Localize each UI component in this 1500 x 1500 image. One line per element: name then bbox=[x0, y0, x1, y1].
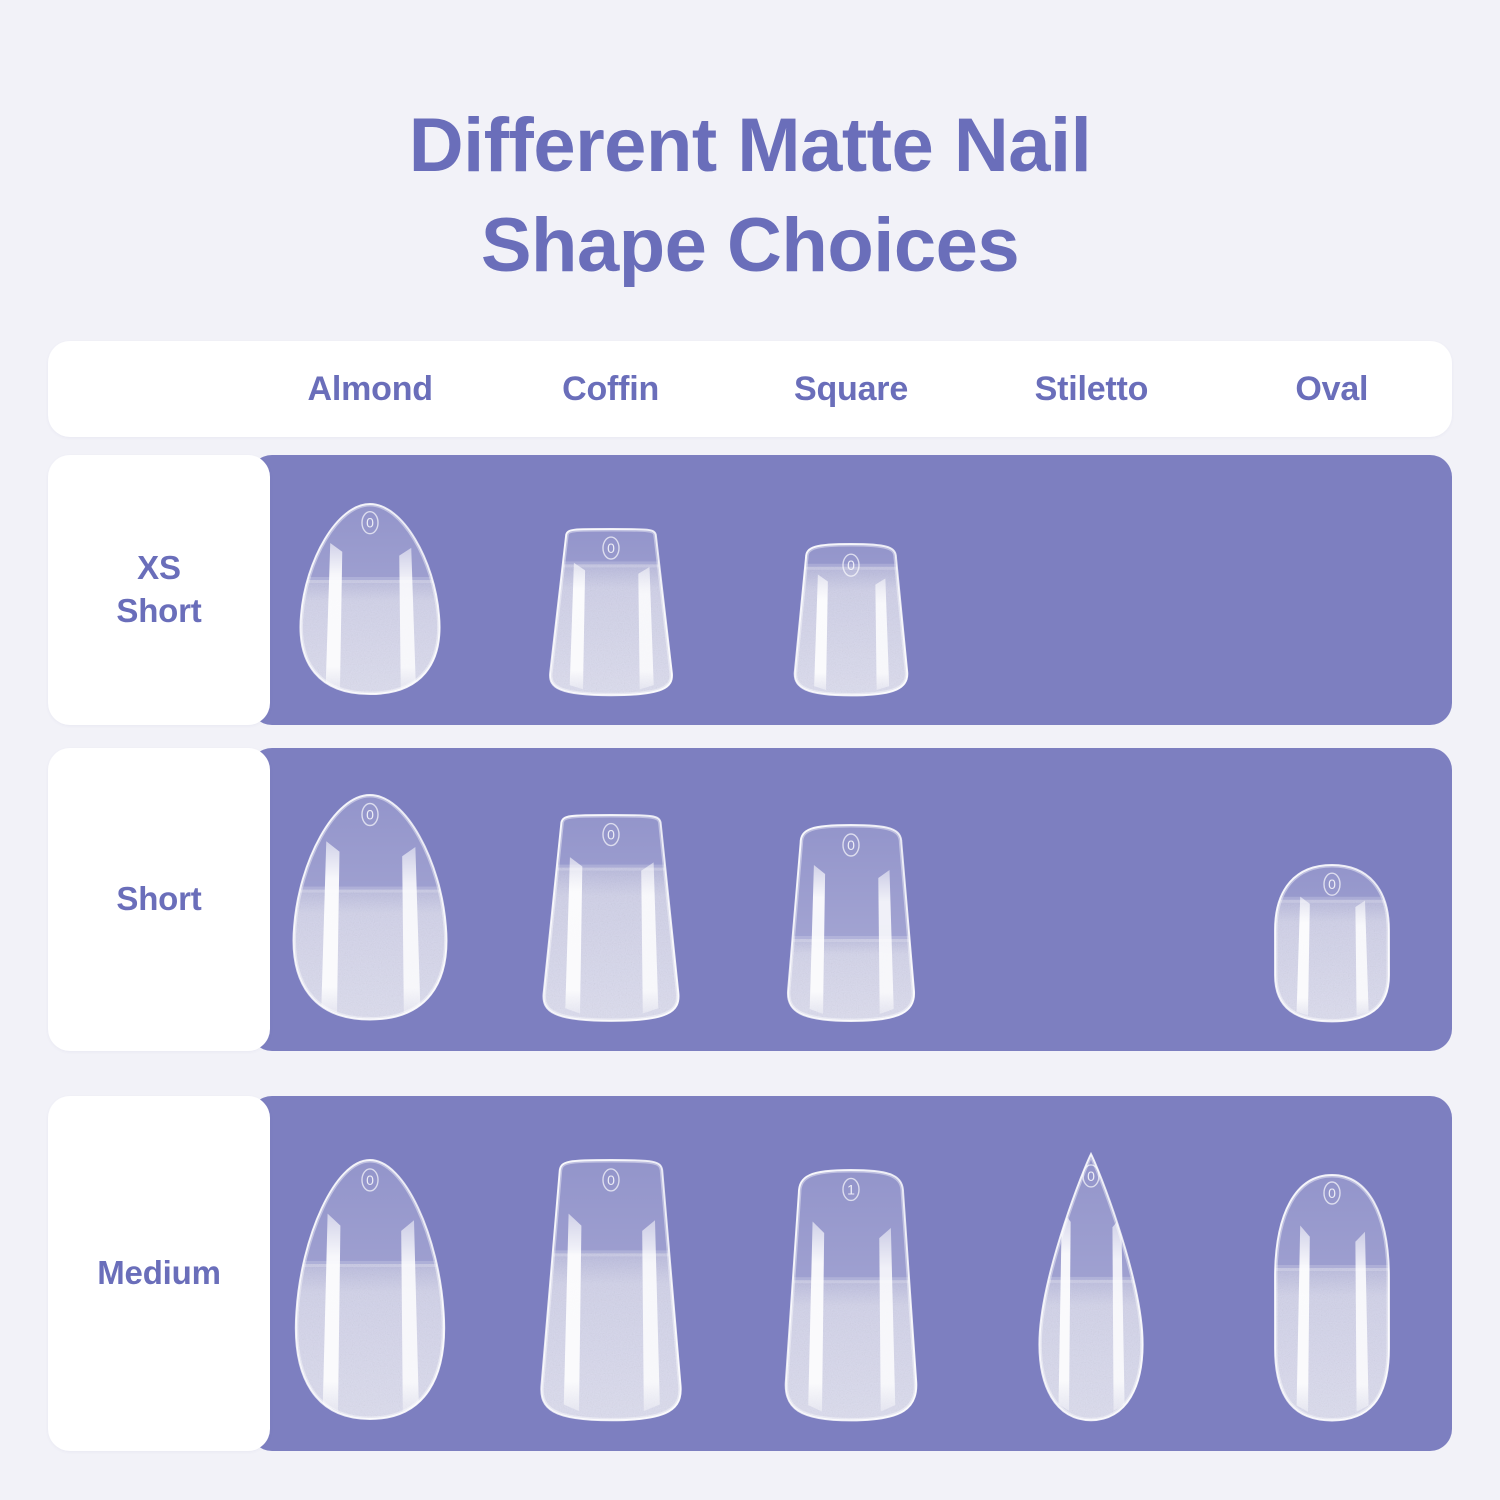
column-header-stiletto: Stiletto bbox=[971, 341, 1211, 437]
cell-short-oval: 0 bbox=[1212, 748, 1452, 1051]
svg-text:0: 0 bbox=[607, 1172, 615, 1188]
nail-tip-almond: 0 bbox=[295, 502, 445, 697]
svg-text:0: 0 bbox=[366, 807, 374, 823]
row-label-text: XS Short bbox=[116, 547, 201, 633]
row-panel-xs-short: 0 bbox=[250, 455, 1452, 725]
cell-medium-square: 1 bbox=[731, 1096, 971, 1451]
page-title-line-2: Shape Choices bbox=[0, 196, 1500, 296]
svg-text:0: 0 bbox=[1328, 1185, 1336, 1201]
nail-shape-size-table: Almond Coffin Square Stiletto Oval XS Sh… bbox=[48, 341, 1452, 1451]
table-row: XS Short bbox=[48, 455, 1452, 725]
cell-short-square: 0 bbox=[731, 748, 971, 1051]
cell-xs-short-coffin: 0 bbox=[490, 455, 730, 725]
table-header-card: Almond Coffin Square Stiletto Oval bbox=[48, 341, 1452, 437]
row-label-text: Short bbox=[116, 878, 201, 921]
svg-text:0: 0 bbox=[1328, 876, 1336, 892]
cell-short-stiletto bbox=[971, 748, 1211, 1051]
cell-short-coffin: 0 bbox=[490, 748, 730, 1051]
svg-text:0: 0 bbox=[366, 515, 374, 531]
nail-tip-coffin: 0 bbox=[533, 813, 688, 1023]
cell-xs-short-oval bbox=[1212, 455, 1452, 725]
nail-tip-almond: 0 bbox=[290, 1158, 450, 1423]
cell-medium-oval: 0 bbox=[1212, 1096, 1452, 1451]
column-header-oval: Oval bbox=[1212, 341, 1452, 437]
column-header-coffin: Coffin bbox=[490, 341, 730, 437]
nail-tip-stiletto: 0 bbox=[1036, 1153, 1146, 1423]
svg-text:0: 0 bbox=[607, 540, 615, 556]
nail-tip-square: 1 bbox=[779, 1168, 924, 1423]
row-label-text: Medium bbox=[97, 1252, 220, 1295]
nail-tip-coffin: 0 bbox=[531, 1158, 691, 1423]
row-label-medium: Medium bbox=[48, 1096, 270, 1451]
row-label-short: Short bbox=[48, 748, 270, 1051]
svg-text:0: 0 bbox=[607, 827, 615, 843]
svg-text:0: 0 bbox=[1088, 1168, 1096, 1184]
svg-text:0: 0 bbox=[847, 837, 855, 853]
nail-tip-oval: 0 bbox=[1272, 1173, 1392, 1423]
cell-medium-stiletto: 0 bbox=[971, 1096, 1211, 1451]
page-title-line-1: Different Matte Nail bbox=[0, 96, 1500, 196]
column-header-square: Square bbox=[731, 341, 971, 437]
table-header-columns: Almond Coffin Square Stiletto Oval bbox=[250, 341, 1452, 437]
table-row: Short bbox=[48, 748, 1452, 1051]
row-label-xs-short: XS Short bbox=[48, 455, 270, 725]
cell-xs-short-stiletto bbox=[971, 455, 1211, 725]
nail-tip-square: 0 bbox=[789, 542, 914, 697]
svg-text:0: 0 bbox=[366, 1172, 374, 1188]
cell-medium-almond: 0 bbox=[250, 1096, 490, 1451]
svg-text:0: 0 bbox=[847, 557, 855, 573]
nail-tip-almond: 0 bbox=[288, 793, 453, 1023]
page-title: Different Matte Nail Shape Choices bbox=[0, 96, 1500, 297]
cell-medium-coffin: 0 bbox=[490, 1096, 730, 1451]
nail-tip-square: 0 bbox=[781, 823, 921, 1023]
cell-short-almond: 0 bbox=[250, 748, 490, 1051]
row-panel-short: 0 bbox=[250, 748, 1452, 1051]
nail-tip-coffin: 0 bbox=[541, 527, 681, 697]
nail-tip-oval: 0 bbox=[1272, 863, 1392, 1023]
table-row: Medium bbox=[48, 1096, 1452, 1451]
cell-xs-short-almond: 0 bbox=[250, 455, 490, 725]
column-header-almond: Almond bbox=[250, 341, 490, 437]
row-panel-medium: 0 bbox=[250, 1096, 1452, 1451]
cell-xs-short-square: 0 bbox=[731, 455, 971, 725]
svg-text:1: 1 bbox=[847, 1181, 855, 1197]
